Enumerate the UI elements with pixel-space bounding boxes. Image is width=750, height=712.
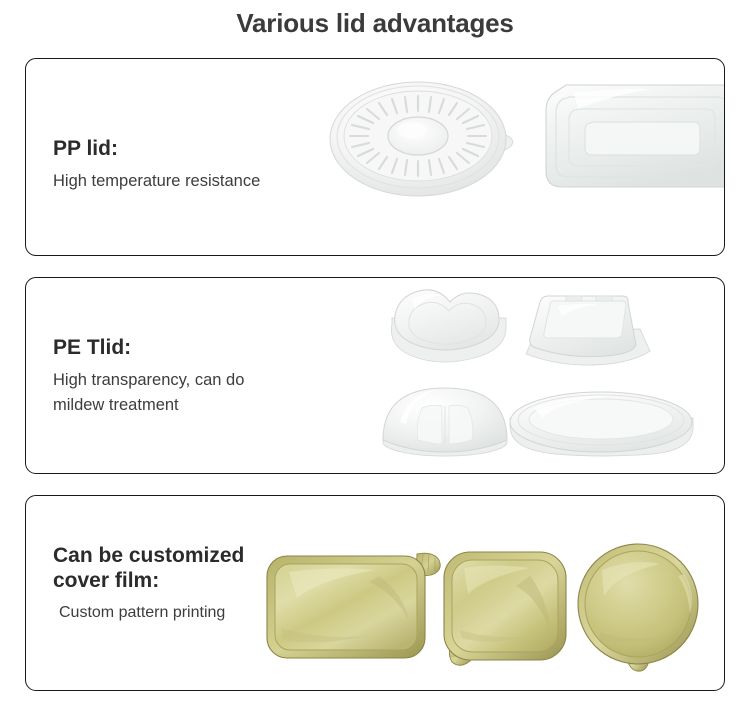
pe-lid-heading: PE Tlid: — [53, 336, 244, 361]
cover-film-subtitle: Custom pattern printing — [53, 601, 244, 626]
pp-lid-text-block: PP lid: High temperature resistance — [53, 137, 260, 194]
card-pe-lid: PE Tlid: High transparency, can do milde… — [25, 277, 725, 474]
card-pp-lid: PP lid: High temperature resistance — [25, 58, 725, 256]
gold-foil-round-lid-image — [566, 538, 716, 678]
pp-lid-heading: PP lid: — [53, 137, 260, 162]
infographic-page: Various lid advantages PP lid: High temp… — [0, 0, 750, 712]
card-cover-film: Can be customized cover film: Custom pat… — [25, 495, 725, 691]
round-dome-lid-image — [378, 378, 513, 460]
page-title: Various lid advantages — [0, 8, 750, 39]
pp-lid-subtitle: High temperature resistance — [53, 169, 260, 195]
gold-foil-square-lid-image — [434, 544, 584, 674]
square-dome-lid-image — [518, 284, 658, 369]
cover-film-text-block: Can be customized cover film: Custom pat… — [53, 544, 244, 625]
oval-flat-lid-image — [504, 386, 699, 464]
pe-lid-subtitle: High transparency, can do mildew treatme… — [53, 368, 244, 419]
pe-lid-text-block: PE Tlid: High transparency, can do milde… — [53, 336, 244, 419]
gold-foil-rectangular-lid-image — [259, 546, 459, 666]
heart-shaped-dome-lid-image — [378, 284, 523, 369]
rectangular-lid-image — [526, 67, 725, 215]
round-ribbed-lid-image — [326, 71, 536, 206]
cover-film-heading: Can be customized cover film: — [53, 544, 244, 594]
